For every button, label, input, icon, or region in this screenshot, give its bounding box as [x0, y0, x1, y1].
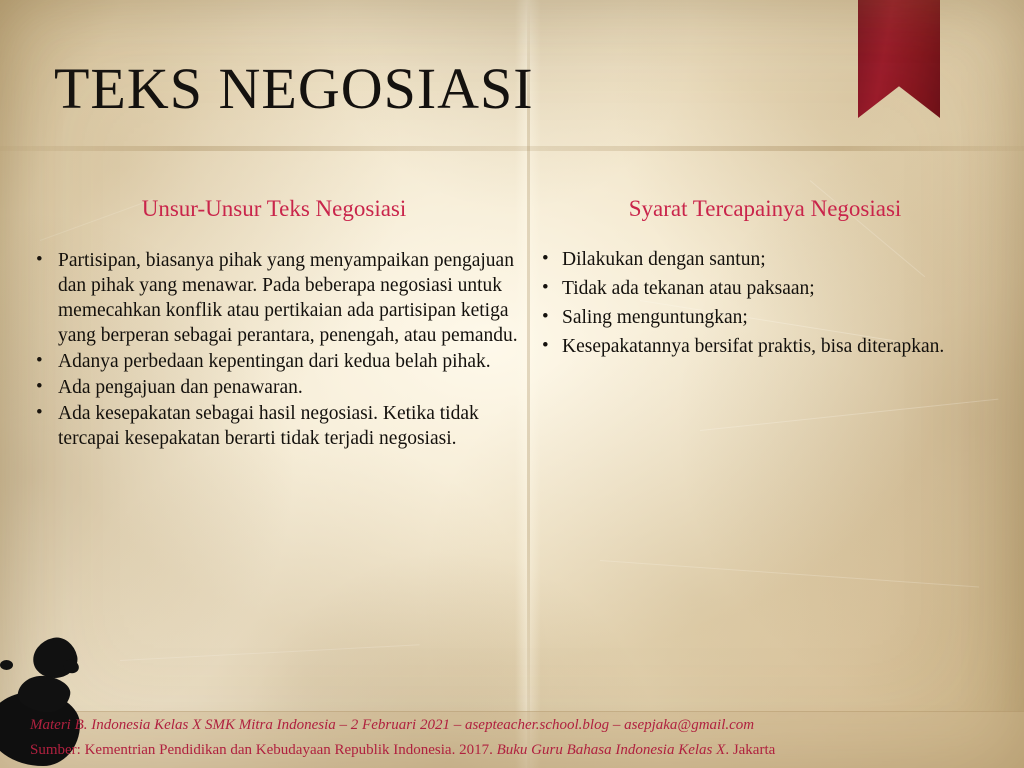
footer-source-line: Sumber: Kementrian Pendidikan dan Kebuda… — [30, 742, 775, 759]
right-column-heading: Syarat Tercapainya Negosiasi — [530, 196, 1000, 222]
footer-source-text1: Kementrian Pendidikan dan Kebudayaan Rep… — [81, 742, 497, 758]
paper-crease-line — [0, 146, 1024, 151]
list-item: Adanya perbedaan kepentingan dari kedua … — [24, 349, 524, 374]
footer-credit-line: Materi B. Indonesia Kelas X SMK Mitra In… — [30, 717, 754, 734]
left-column-heading: Unsur-Unsur Teks Negosiasi — [24, 196, 524, 222]
scratch-mark — [120, 644, 420, 661]
list-item: Saling menguntungkan; — [530, 304, 1000, 331]
slide-canvas: TEKS NEGOSIASI Unsur-Unsur Teks Negosias… — [0, 0, 1024, 768]
scratch-mark — [600, 560, 979, 588]
ribbon-bookmark-icon — [858, 0, 940, 118]
footer-source-booktitle: Buku Guru Bahasa Indonesia Kelas X — [497, 742, 726, 758]
footer-source-label: Sumber: — [30, 742, 81, 758]
list-item: Partisipan, biasanya pihak yang menyampa… — [24, 248, 524, 348]
scratch-mark — [700, 399, 998, 431]
footer-source-text2: . Jakarta — [725, 742, 775, 758]
list-item: Ada pengajuan dan penawaran. — [24, 375, 524, 400]
ink-blot — [29, 634, 80, 682]
ink-blot — [0, 660, 13, 670]
list-item: Tidak ada tekanan atau paksaan; — [530, 275, 1000, 302]
right-column-list: Dilakukan dengan santun; Tidak ada tekan… — [530, 246, 1000, 360]
list-item: Ada kesepakatan sebagai hasil negosiasi.… — [24, 401, 524, 451]
left-column-list: Partisipan, biasanya pihak yang menyampa… — [24, 248, 524, 451]
list-item: Kesepakatannya bersifat praktis, bisa di… — [530, 333, 1000, 360]
list-item: Dilakukan dengan santun; — [530, 246, 1000, 273]
page-title: TEKS NEGOSIASI — [54, 55, 534, 122]
right-column: Syarat Tercapainya Negosiasi Dilakukan d… — [530, 196, 1000, 362]
left-column: Unsur-Unsur Teks Negosiasi Partisipan, b… — [24, 196, 524, 452]
